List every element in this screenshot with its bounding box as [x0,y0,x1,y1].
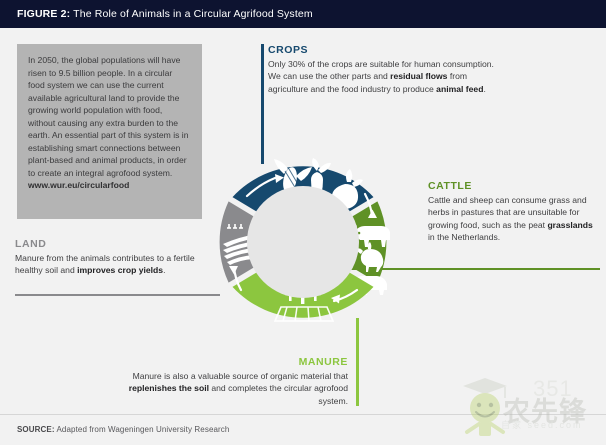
land-body: Manure from the animals contributes to a… [15,252,205,277]
section-cattle: CATTLE Cattle and sheep can consume gras… [428,180,600,244]
infographic-page: FIGURE 2: The Role of Animals in a Circu… [0,0,606,445]
cattle-body: Cattle and sheep can consume grass and h… [428,194,600,244]
land-heading: LAND [15,238,205,250]
header-bar: FIGURE 2: The Role of Animals in a Circu… [0,0,606,28]
watermark-text-sub: 自家 seed.com [501,418,583,431]
manure-heading: MANURE [120,356,348,368]
source-text: Adapted from Wageningen University Resea… [56,425,229,434]
section-manure: MANURE Manure is also a valuable source … [120,356,348,407]
cattle-text-2: in the Netherlands. [428,232,500,242]
crops-heading: CROPS [268,44,498,56]
mascot-icon [455,372,515,438]
figure-label: FIGURE 2: [17,8,70,20]
source-note: SOURCE: Adapted from Wageningen Universi… [17,425,229,434]
intro-link[interactable]: www.wur.eu/circularfood [28,180,129,190]
watermark-text-cn: 农先锋 [503,390,587,429]
manure-body: Manure is also a valuable source of orga… [120,370,348,407]
watermark: 351 农先锋 自家 seed.com [455,372,605,442]
cattle-bold-1: grasslands [547,220,592,230]
donut-center-hole [247,186,359,298]
source-label: SOURCE: [17,425,55,434]
figure-title: The Role of Animals in a Circular Agrifo… [73,8,313,20]
manure-text-1: Manure is also a valuable source of orga… [133,371,348,381]
footer-divider [0,414,606,415]
circular-cycle-diagram [205,144,401,340]
intro-body: In 2050, the global populations will hav… [28,55,189,178]
manure-text-2: and completes the circular agrofood syst… [209,383,348,405]
land-connector-line [15,294,220,296]
crops-bold-2: animal feed [436,84,483,94]
land-text-2: . [163,265,165,275]
crops-body: Only 30% of the crops are suitable for h… [268,58,498,95]
page-title: FIGURE 2: The Role of Animals in a Circu… [17,8,313,20]
land-bold-1: improves crop yields [77,265,163,275]
manure-bold-1: replenishes the soil [129,383,209,393]
watermark-number: 351 [533,376,573,402]
intro-paragraph: In 2050, the global populations will hav… [28,54,191,192]
intro-box: In 2050, the global populations will hav… [17,44,202,219]
section-land: LAND Manure from the animals contributes… [15,238,205,277]
crops-text-3: . [483,84,485,94]
section-crops: CROPS Only 30% of the crops are suitable… [268,44,498,95]
cattle-heading: CATTLE [428,180,600,192]
crops-bold-1: residual flows [390,71,447,81]
